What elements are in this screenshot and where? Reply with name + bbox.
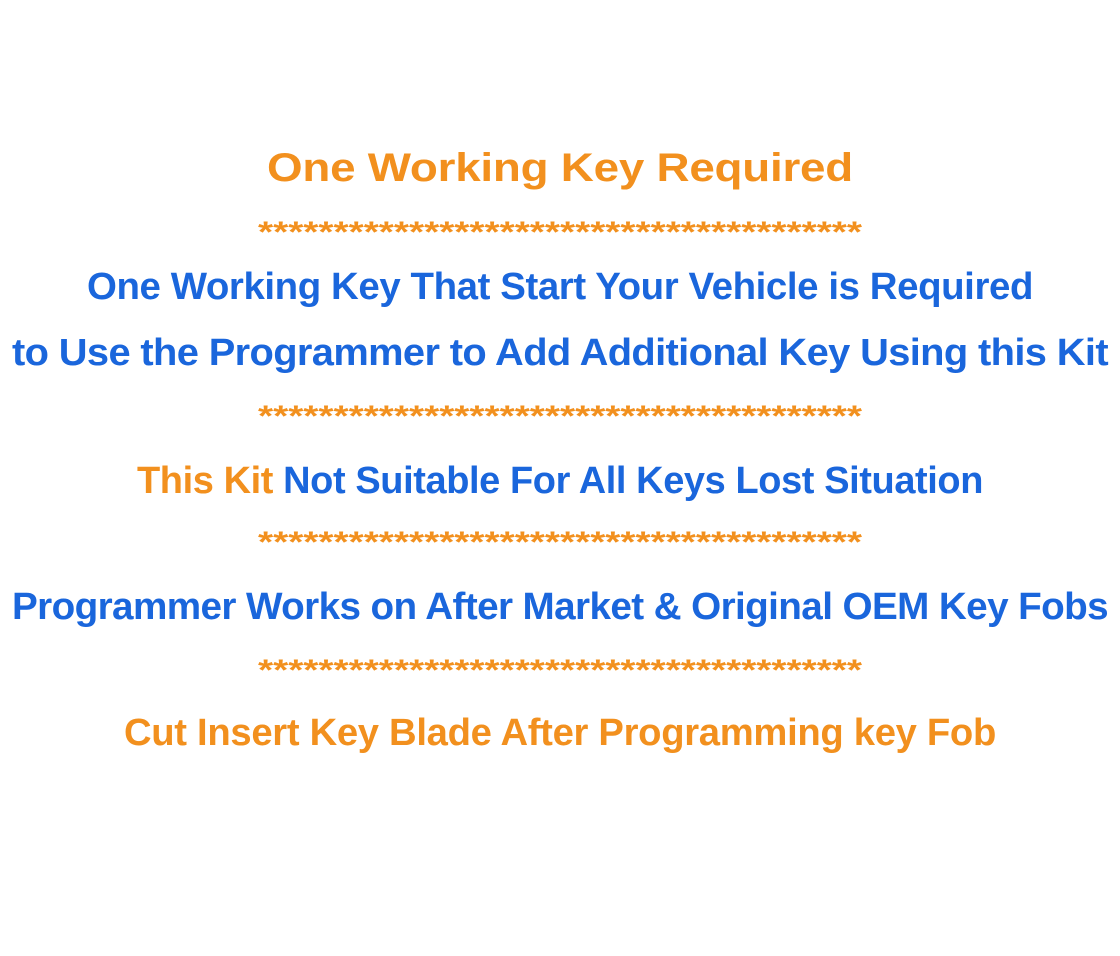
key-programming-notice-board: One Working Key Required ***************…	[0, 0, 1120, 956]
asterisk-separator-1: ****************************************	[0, 218, 1120, 248]
asterisk-separator-3: ****************************************	[0, 528, 1120, 558]
programmer-compatibility-line: Programmer Works on After Market & Origi…	[0, 588, 1120, 626]
requirement-line-1: One Working Key That Start Your Vehicle …	[0, 268, 1120, 306]
not-suitable-line-emphasis: This Kit	[137, 460, 283, 502]
asterisk-separator-2: ****************************************	[0, 402, 1120, 432]
cut-key-blade-line: Cut Insert Key Blade After Programming k…	[0, 714, 1120, 752]
asterisk-separator-4: ****************************************	[0, 656, 1120, 686]
requirement-line-2: to Use the Programmer to Add Additional …	[0, 334, 1120, 372]
not-suitable-line-rest: Not Suitable For All Keys Lost Situation	[283, 460, 983, 502]
page-title: One Working Key Required	[0, 148, 1120, 188]
not-suitable-line: This Kit Not Suitable For All Keys Lost …	[0, 462, 1119, 500]
